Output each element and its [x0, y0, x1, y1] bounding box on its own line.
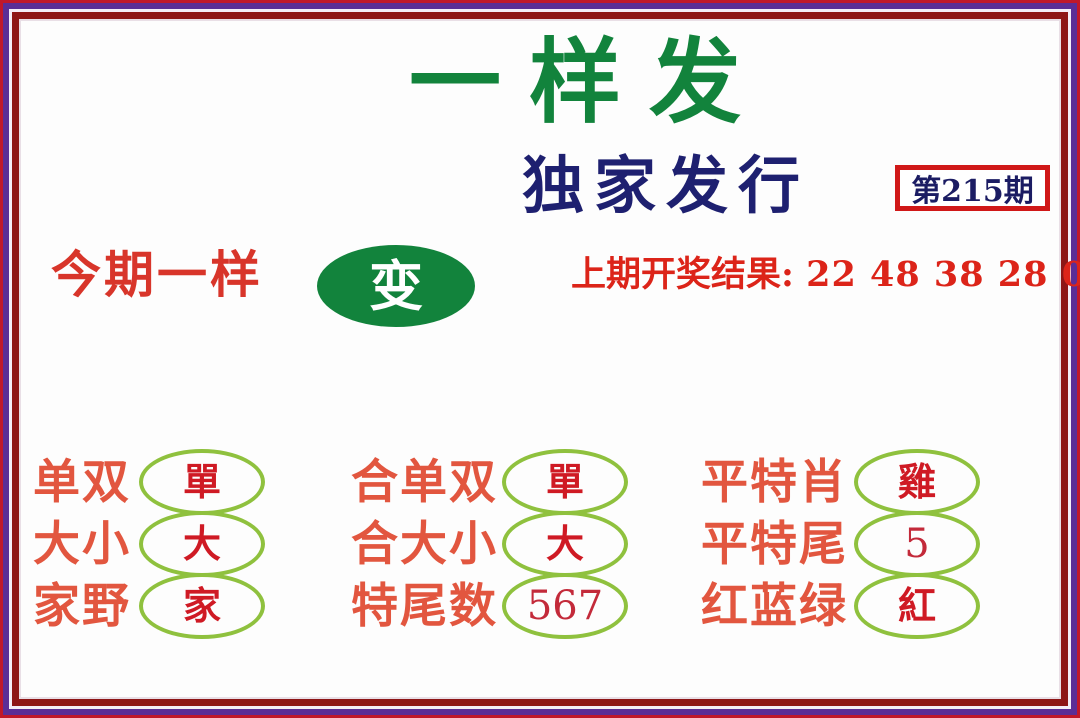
prediction-label: 单双 — [33, 459, 131, 506]
poster-canvas: 一样发 独家发行 第215期 今期一样 变 上期开奖结果: 22 48 38 2… — [21, 21, 1059, 697]
prediction-row: 合大小大 — [351, 513, 691, 575]
prediction-row: 家野家 — [33, 575, 343, 637]
banner-label: 今期一样 — [51, 250, 263, 300]
prediction-value: 家 — [183, 587, 221, 625]
prediction-value-ellipse: 單 — [502, 449, 628, 515]
prediction-row: 大小大 — [33, 513, 343, 575]
banner-highlight-ellipse: 变 — [317, 245, 475, 327]
prediction-label: 平特尾 — [701, 521, 848, 568]
prediction-value-ellipse: 5 — [854, 511, 980, 577]
prediction-row: 平特尾5 — [701, 513, 1051, 575]
prediction-value: 雞 — [898, 463, 936, 501]
prediction-column-2: 合单双單合大小大特尾数567 — [351, 451, 691, 661]
prediction-column-3: 平特肖雞平特尾5红蓝绿紅 — [701, 451, 1051, 661]
prediction-value-ellipse: 大 — [502, 511, 628, 577]
prediction-label: 特尾数 — [351, 583, 498, 630]
prediction-label: 合大小 — [351, 521, 498, 568]
prediction-row: 红蓝绿紅 — [701, 575, 1051, 637]
prediction-value-ellipse: 家 — [139, 573, 265, 639]
prediction-value: 大 — [183, 525, 221, 563]
last-draw-result-numbers: 22 48 38 28 01 19+15 — [806, 254, 1080, 295]
last-draw-result: 上期开奖结果: 22 48 38 28 01 19+15 — [571, 257, 1080, 292]
prediction-value: 紅 — [898, 587, 936, 625]
prediction-value: 單 — [183, 463, 221, 501]
prediction-label: 红蓝绿 — [701, 583, 848, 630]
last-draw-result-label: 上期开奖结果: — [571, 254, 794, 295]
issue-number-badge: 第215期 — [895, 165, 1050, 211]
prediction-value: 單 — [546, 463, 584, 501]
banner-highlight-text: 变 — [369, 259, 423, 313]
prediction-value: 大 — [546, 525, 584, 563]
prediction-label: 平特肖 — [701, 459, 848, 506]
prediction-grid: 单双單大小大家野家 合单双單合大小大特尾数567 平特肖雞平特尾5红蓝绿紅 — [21, 451, 1059, 661]
lottery-prediction-poster: 一样发 独家发行 第215期 今期一样 变 上期开奖结果: 22 48 38 2… — [0, 0, 1080, 718]
prediction-label: 大小 — [33, 521, 131, 568]
prediction-row: 平特肖雞 — [701, 451, 1051, 513]
prediction-value: 567 — [527, 586, 603, 626]
prediction-column-1: 单双單大小大家野家 — [33, 451, 343, 661]
prediction-value-ellipse: 567 — [502, 573, 628, 639]
prediction-row: 单双單 — [33, 451, 343, 513]
prediction-row: 特尾数567 — [351, 575, 691, 637]
prediction-value-ellipse: 單 — [139, 449, 265, 515]
subtitle-exclusive-publication: 独家发行 — [451, 155, 871, 217]
prediction-row: 合单双單 — [351, 451, 691, 513]
prediction-label: 家野 — [33, 583, 131, 630]
prediction-value-ellipse: 大 — [139, 511, 265, 577]
prediction-value-ellipse: 紅 — [854, 573, 980, 639]
prediction-value-ellipse: 雞 — [854, 449, 980, 515]
prediction-label: 合单双 — [351, 459, 498, 506]
prediction-value: 5 — [904, 524, 929, 564]
page-title: 一样发 — [275, 36, 875, 128]
